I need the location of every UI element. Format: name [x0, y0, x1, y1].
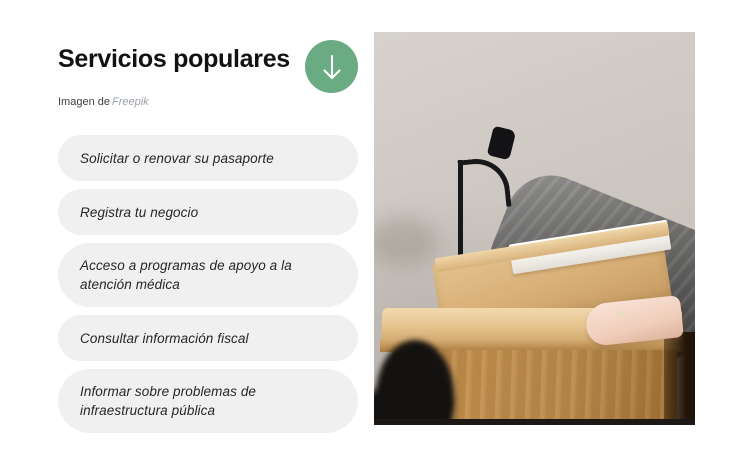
- podium-shadow-edge: [664, 332, 695, 425]
- list-item[interactable]: Acceso a programas de apoyo a la atenció…: [58, 243, 358, 307]
- photo-bottom-edge: [374, 419, 695, 425]
- heading-row: Servicios populares: [58, 44, 358, 84]
- list-item[interactable]: Consultar información fiscal: [58, 315, 358, 361]
- list-item[interactable]: Informar sobre problemas de infraestruct…: [58, 369, 358, 433]
- freepik-link[interactable]: Freepik: [112, 96, 149, 108]
- service-label: Solicitar o renovar su pasaporte: [80, 149, 274, 168]
- arrow-down-icon: [319, 53, 345, 81]
- list-item[interactable]: Solicitar o renovar su pasaporte: [58, 135, 358, 181]
- photo-illustration: [374, 32, 695, 425]
- microphone-head: [487, 126, 517, 161]
- services-list: Solicitar o renovar su pasaporte Registr…: [58, 135, 358, 433]
- image-attribution: Imagen deFreepik: [58, 95, 358, 109]
- scroll-down-button[interactable]: [305, 40, 358, 93]
- list-item[interactable]: Registra tu negocio: [58, 189, 358, 235]
- wall-shadow: [374, 218, 438, 266]
- service-label: Informar sobre problemas de infraestruct…: [80, 382, 332, 420]
- content-column: Servicios populares Imagen deFreepik Sol…: [58, 44, 358, 433]
- podium-photo: [374, 32, 695, 425]
- service-label: Consultar información fiscal: [80, 329, 249, 348]
- service-label: Registra tu negocio: [80, 203, 198, 222]
- microphone-gooseneck: [457, 156, 511, 212]
- slide-canvas: Servicios populares Imagen deFreepik Sol…: [0, 0, 750, 460]
- attribution-prefix: Imagen de: [58, 96, 110, 108]
- service-label: Acceso a programas de apoyo a la atenció…: [80, 256, 332, 294]
